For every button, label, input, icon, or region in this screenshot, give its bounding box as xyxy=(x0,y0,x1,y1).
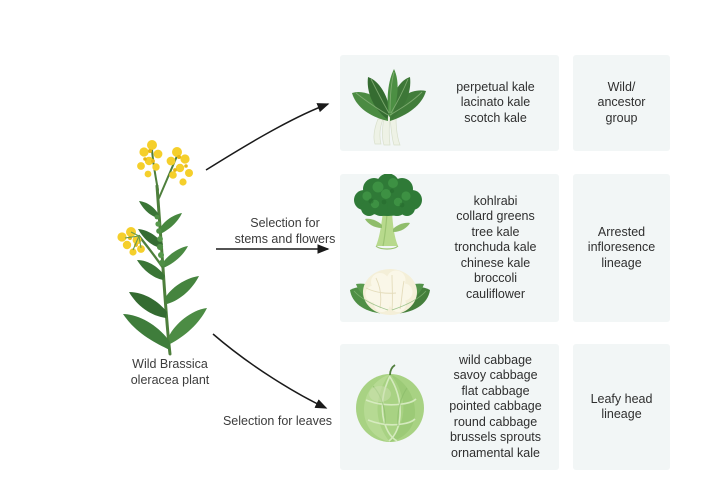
lineage-label-arrested-infloresence: Arrested infloresence lineage xyxy=(588,225,655,272)
lineage-panel-arrested-infloresence: Arrested infloresence lineage xyxy=(573,174,670,322)
kale-illustration xyxy=(340,55,440,151)
species-panel-wild-ancestor: perpetual kale lacinato kale scotch kale xyxy=(340,55,559,151)
species-list-wild-ancestor: perpetual kale lacinato kale scotch kale xyxy=(440,80,559,127)
lineage-label-wild-ancestor: Wild/ ancestor group xyxy=(598,80,646,127)
lineage-label-leafy-head: Leafy head lineage xyxy=(591,392,653,423)
species-list-arrested-infloresence: kohlrabi collard greens tree kale tronch… xyxy=(440,194,559,303)
species-panel-arrested-infloresence: kohlrabi collard greens tree kale tronch… xyxy=(340,174,559,322)
lineage-panel-wild-ancestor: Wild/ ancestor group xyxy=(573,55,670,151)
source-plant-block: Wild Brassica oleracea plant xyxy=(95,128,245,393)
species-list-leafy-head: wild cabbage savoy cabbage flat cabbage … xyxy=(440,353,559,462)
source-plant-caption: Wild Brassica oleracea plant xyxy=(95,356,245,388)
lineage-panel-leafy-head: Leafy head lineage xyxy=(573,344,670,470)
brassica-oleracea-flowering-plant-illustration xyxy=(113,128,228,358)
broccoli-cauliflower-illustration xyxy=(340,174,440,322)
species-panel-leafy-head: wild cabbage savoy cabbage flat cabbage … xyxy=(340,344,559,470)
arrow-label-selection-leaves: Selection for leaves xyxy=(200,413,355,429)
arrow-label-selection-stems-flowers: Selection for stems and flowers xyxy=(215,215,355,247)
brassica-domestication-diagram: Wild Brassica oleracea plant Selection f… xyxy=(0,0,720,503)
cabbage-illustration xyxy=(340,344,440,470)
